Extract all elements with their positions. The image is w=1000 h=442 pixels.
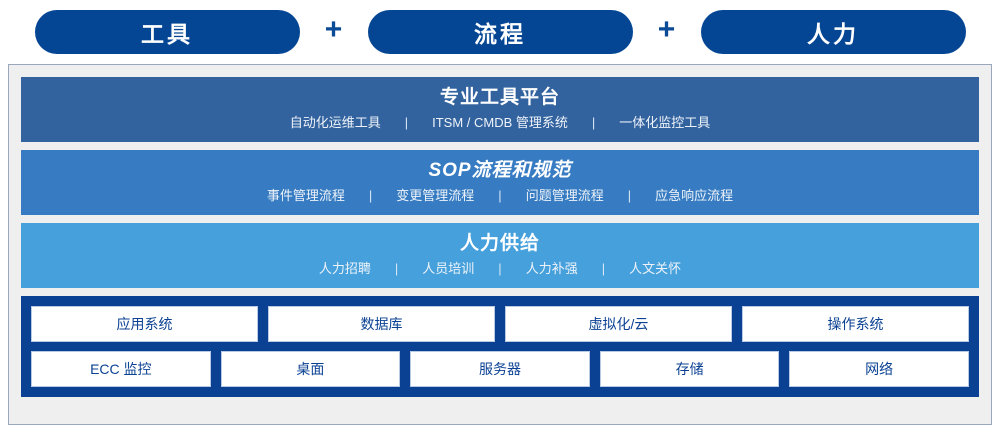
managed-objects-row-1: 应用系统 数据库 虚拟化/云 操作系统 [31, 306, 969, 342]
diagram-canvas: 工具 + 流程 + 人力 专业工具平台 自动化运维工具 | ITSM / CMD… [0, 0, 1000, 442]
band-process-item[interactable]: 变更管理流程 [382, 186, 488, 206]
band-process-item[interactable]: 应急响应流程 [641, 186, 747, 206]
plus-separator-2: + [633, 15, 701, 49]
band-manpower-item[interactable]: 人员培训 [408, 259, 488, 279]
item-separator: | [385, 259, 408, 279]
band-process-item[interactable]: 问题管理流程 [512, 186, 618, 206]
managed-objects-block: 应用系统 数据库 虚拟化/云 操作系统 ECC 监控 桌面 服务器 存储 网络 [21, 296, 979, 397]
capability-pill-row: 工具 + 流程 + 人力 [0, 8, 1000, 56]
item-separator: | [395, 113, 418, 133]
pill-manpower-label: 人力 [807, 15, 859, 49]
item-separator: | [618, 186, 641, 206]
capability-frame: 专业工具平台 自动化运维工具 | ITSM / CMDB 管理系统 | 一体化监… [8, 64, 992, 425]
object-box[interactable]: 存储 [600, 351, 780, 387]
band-process[interactable]: SOP流程和规范 事件管理流程 | 变更管理流程 | 问题管理流程 | 应急响应… [21, 150, 979, 215]
band-manpower-item[interactable]: 人文关怀 [615, 259, 695, 279]
managed-objects-row-2: ECC 监控 桌面 服务器 存储 网络 [31, 351, 969, 387]
band-tools-item[interactable]: 一体化监控工具 [605, 113, 724, 133]
pill-process-label: 流程 [474, 15, 526, 49]
band-process-items: 事件管理流程 | 变更管理流程 | 问题管理流程 | 应急响应流程 [21, 186, 979, 206]
band-tools-item[interactable]: ITSM / CMDB 管理系统 [418, 113, 582, 133]
band-manpower-item[interactable]: 人力招聘 [305, 259, 385, 279]
object-box[interactable]: 操作系统 [742, 306, 969, 342]
band-process-item[interactable]: 事件管理流程 [253, 186, 359, 206]
item-separator: | [359, 186, 382, 206]
band-process-title: SOP流程和规范 [21, 158, 979, 183]
band-manpower[interactable]: 人力供给 人力招聘 | 人员培训 | 人力补强 | 人文关怀 [21, 223, 979, 288]
object-box[interactable]: 虚拟化/云 [505, 306, 732, 342]
item-separator: | [592, 259, 615, 279]
object-box[interactable]: 桌面 [221, 351, 401, 387]
plus-separator-1: + [300, 15, 368, 49]
band-tools-item[interactable]: 自动化运维工具 [276, 113, 395, 133]
band-manpower-items: 人力招聘 | 人员培训 | 人力补强 | 人文关怀 [21, 259, 979, 279]
band-tools-items: 自动化运维工具 | ITSM / CMDB 管理系统 | 一体化监控工具 [21, 113, 979, 133]
band-stack: 专业工具平台 自动化运维工具 | ITSM / CMDB 管理系统 | 一体化监… [21, 77, 979, 397]
object-box[interactable]: 网络 [789, 351, 969, 387]
object-box[interactable]: ECC 监控 [31, 351, 211, 387]
band-tools[interactable]: 专业工具平台 自动化运维工具 | ITSM / CMDB 管理系统 | 一体化监… [21, 77, 979, 142]
item-separator: | [582, 113, 605, 133]
object-box[interactable]: 服务器 [410, 351, 590, 387]
item-separator: | [488, 259, 511, 279]
pill-process[interactable]: 流程 [368, 10, 633, 54]
object-box[interactable]: 数据库 [268, 306, 495, 342]
pill-tools-label: 工具 [141, 15, 193, 49]
band-manpower-title: 人力供给 [21, 231, 979, 256]
object-box[interactable]: 应用系统 [31, 306, 258, 342]
item-separator: | [488, 186, 511, 206]
pill-manpower[interactable]: 人力 [701, 10, 966, 54]
band-tools-title: 专业工具平台 [21, 85, 979, 110]
band-manpower-item[interactable]: 人力补强 [512, 259, 592, 279]
pill-tools[interactable]: 工具 [35, 10, 300, 54]
